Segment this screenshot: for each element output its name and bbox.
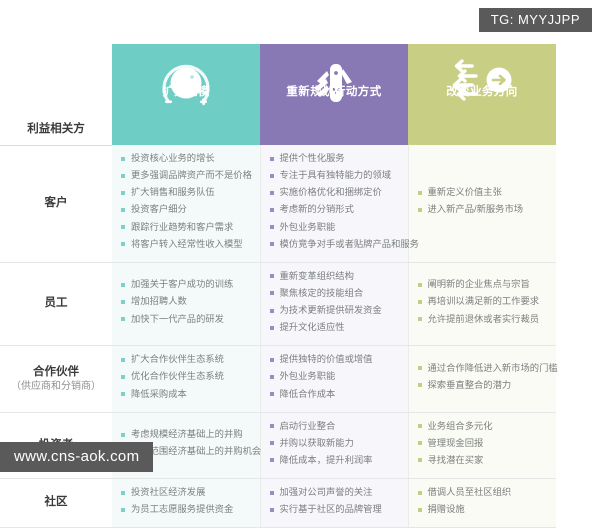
row-label-text: 合作伙伴	[33, 366, 79, 378]
list-item: 启动行业整合	[270, 420, 401, 434]
list-item: 外包业务职能	[270, 221, 401, 235]
item-list: 投资核心业务的增长 更多强调品牌资产而不是价格 扩大销售和服务队伍 投资客户细分…	[121, 152, 253, 252]
row-label-community: 社区	[0, 479, 112, 528]
list-item: 优化合作伙伴生态系统	[121, 370, 253, 384]
list-item: 更多强调品牌资产而不是价格	[121, 169, 253, 183]
matrix-header-row: 利益相关方 扩大规模	[0, 44, 556, 145]
cell-employees-change: 阐明新的企业焦点与宗旨 再培训以满足新的工作要求 允许提前退休或者实行裁员	[408, 262, 556, 346]
item-list: 业务组合多元化 管理现金回报 寻找潜在买家	[418, 420, 550, 468]
row-label-text: 员工	[45, 297, 68, 309]
cell-investors-replan: 启动行业整合 并购以获取新能力 降低成本，提升利润率	[260, 412, 408, 478]
list-item: 通过合作降低进入新市场的门槛	[418, 362, 550, 376]
list-item: 阐明新的企业焦点与宗旨	[418, 278, 550, 292]
list-item: 专注于具有独特能力的领域	[270, 169, 401, 183]
list-item: 将客户转入经常性收入模型	[121, 238, 253, 252]
list-item: 扩大销售和服务队伍	[121, 186, 253, 200]
matrix-row: 合作伙伴 （供应商和分销商） 扩大合作伙伴生态系统 优化合作伙伴生态系统 降低采…	[0, 346, 556, 412]
list-item: 投资社区经济发展	[121, 486, 253, 500]
column-header-title: 重新规划行动方式	[286, 86, 381, 98]
item-list: 阐明新的企业焦点与宗旨 再培训以满足新的工作要求 允许提前退休或者实行裁员	[418, 278, 550, 326]
cell-customers-expand: 投资核心业务的增长 更多强调品牌资产而不是价格 扩大销售和服务队伍 投资客户细分…	[112, 145, 260, 262]
cell-partners-expand: 扩大合作伙伴生态系统 优化合作伙伴生态系统 降低采购成本	[112, 346, 260, 412]
list-item: 降低成本，提升利润率	[270, 454, 401, 468]
list-item: 允许提前退休或者实行裁员	[418, 313, 550, 327]
column-header-replan-approach[interactable]: 重新规划行动方式	[260, 44, 408, 145]
list-item: 扩大合作伙伴生态系统	[121, 353, 253, 367]
item-list: 扩大合作伙伴生态系统 优化合作伙伴生态系统 降低采购成本	[121, 353, 253, 401]
list-item: 业务组合多元化	[418, 420, 550, 434]
list-item: 借调人员至社区组织	[418, 486, 550, 500]
list-item: 投资核心业务的增长	[121, 152, 253, 166]
list-item: 实施价格优化和捆绑定价	[270, 186, 401, 200]
list-item: 为员工志愿服务提供资金	[121, 503, 253, 517]
column-header-title: 改变业务方向	[446, 86, 517, 98]
cell-customers-change: 重新定义价值主张 进入新产品/新服务市场	[408, 145, 556, 262]
item-list: 投资社区经济发展 为员工志愿服务提供资金	[121, 486, 253, 517]
cell-community-replan: 加强对公司声誉的关注 实行基于社区的品牌管理	[260, 479, 408, 528]
list-item: 实行基于社区的品牌管理	[270, 503, 401, 517]
cell-employees-replan: 重新变革组织结构 聚焦核定的技能组合 为技术更新提供研发资金 提升文化适应性	[260, 262, 408, 346]
list-item: 考虑新的分销形式	[270, 203, 401, 217]
list-item: 再培训以满足新的工作要求	[418, 295, 550, 309]
site-watermark: www.cns-aok.com	[0, 442, 153, 472]
matrix-row: 员工 加强关于客户成功的训练 增加招聘人数 加快下一代产品的研发 重新变革组织结…	[0, 262, 556, 346]
list-item: 投资客户细分	[121, 203, 253, 217]
cell-partners-change: 通过合作降低进入新市场的门槛 探索垂直整合的潜力	[408, 346, 556, 412]
matrix-corner-label: 利益相关方	[0, 44, 112, 145]
item-list: 启动行业整合 并购以获取新能力 降低成本，提升利润率	[270, 420, 401, 468]
list-item: 模仿竞争对手或者贴牌产品和服务	[270, 238, 401, 252]
dial-knob-icon	[112, 52, 260, 114]
list-item: 提供个性化服务	[270, 152, 401, 166]
row-label-text: 客户	[45, 197, 68, 209]
list-item: 提升文化适应性	[270, 321, 401, 335]
cell-employees-expand: 加强关于客户成功的训练 增加招聘人数 加快下一代产品的研发	[112, 262, 260, 346]
list-item: 外包业务职能	[270, 370, 401, 384]
cell-community-change: 借调人员至社区组织 捐赠设施	[408, 479, 556, 528]
cell-community-expand: 投资社区经济发展 为员工志愿服务提供资金	[112, 479, 260, 528]
cell-partners-replan: 提供独特的价值或增值 外包业务职能 降低合作成本	[260, 346, 408, 412]
item-list: 借调人员至社区组织 捐赠设施	[418, 486, 550, 517]
list-item: 加快下一代产品的研发	[121, 313, 253, 327]
list-item: 重新变革组织结构	[270, 270, 401, 284]
item-list: 提供个性化服务 专注于具有独特能力的领域 实施价格优化和捆绑定价 考虑新的分销形…	[270, 152, 401, 252]
list-item: 探索垂直整合的潜力	[418, 379, 550, 393]
list-item: 进入新产品/新服务市场	[418, 203, 550, 217]
row-label-customers: 客户	[0, 145, 112, 262]
matrix-row: 社区 投资社区经济发展 为员工志愿服务提供资金 加强对公司声誉的关注 实行基于社…	[0, 479, 556, 528]
cell-investors-change: 业务组合多元化 管理现金回报 寻找潜在买家	[408, 412, 556, 478]
list-item: 加强对公司声誉的关注	[270, 486, 401, 500]
list-item: 为技术更新提供研发资金	[270, 304, 401, 318]
list-item: 考虑规模经济基础上的并购	[121, 428, 253, 442]
row-label-text: 社区	[45, 496, 68, 508]
row-label-partners: 合作伙伴 （供应商和分销商）	[0, 346, 112, 412]
row-sublabel-text: （供应商和分销商）	[0, 380, 112, 393]
item-list: 重新定义价值主张 进入新产品/新服务市场	[418, 186, 550, 217]
list-item: 降低合作成本	[270, 388, 401, 402]
list-item: 寻找潜在买家	[418, 454, 550, 468]
list-item: 增加招聘人数	[121, 295, 253, 309]
list-item: 并购以获取新能力	[270, 437, 401, 451]
list-item: 管理现金回报	[418, 437, 550, 451]
list-item: 提供独特的价值或增值	[270, 353, 401, 367]
cell-customers-replan: 提供个性化服务 专注于具有独特能力的领域 实施价格优化和捆绑定价 考虑新的分销形…	[260, 145, 408, 262]
column-header-change-direction[interactable]: 改变业务方向	[408, 44, 556, 145]
item-list: 通过合作降低进入新市场的门槛 探索垂直整合的潜力	[418, 362, 550, 393]
list-item: 聚焦核定的技能组合	[270, 287, 401, 301]
column-header-title: 扩大规模	[162, 86, 210, 98]
list-item: 加强关于客户成功的训练	[121, 278, 253, 292]
arrows-redirect-icon	[408, 52, 556, 114]
list-item: 重新定义价值主张	[418, 186, 550, 200]
item-list: 重新变革组织结构 聚焦核定的技能组合 为技术更新提供研发资金 提升文化适应性	[270, 270, 401, 335]
list-item: 跟踪行业趋势和客户需求	[121, 221, 253, 235]
swiss-army-knife-icon	[260, 52, 408, 114]
list-item: 捐赠设施	[418, 503, 550, 517]
matrix-row: 客户 投资核心业务的增长 更多强调品牌资产而不是价格 扩大销售和服务队伍 投资客…	[0, 145, 556, 262]
item-list: 加强关于客户成功的训练 增加招聘人数 加快下一代产品的研发	[121, 278, 253, 326]
list-item: 降低采购成本	[121, 388, 253, 402]
item-list: 加强对公司声誉的关注 实行基于社区的品牌管理	[270, 486, 401, 517]
tg-tag-badge: TG: MYYJJPP	[479, 8, 592, 32]
item-list: 提供独特的价值或增值 外包业务职能 降低合作成本	[270, 353, 401, 401]
row-label-employees: 员工	[0, 262, 112, 346]
column-header-expand-scale[interactable]: 扩大规模	[112, 44, 260, 145]
